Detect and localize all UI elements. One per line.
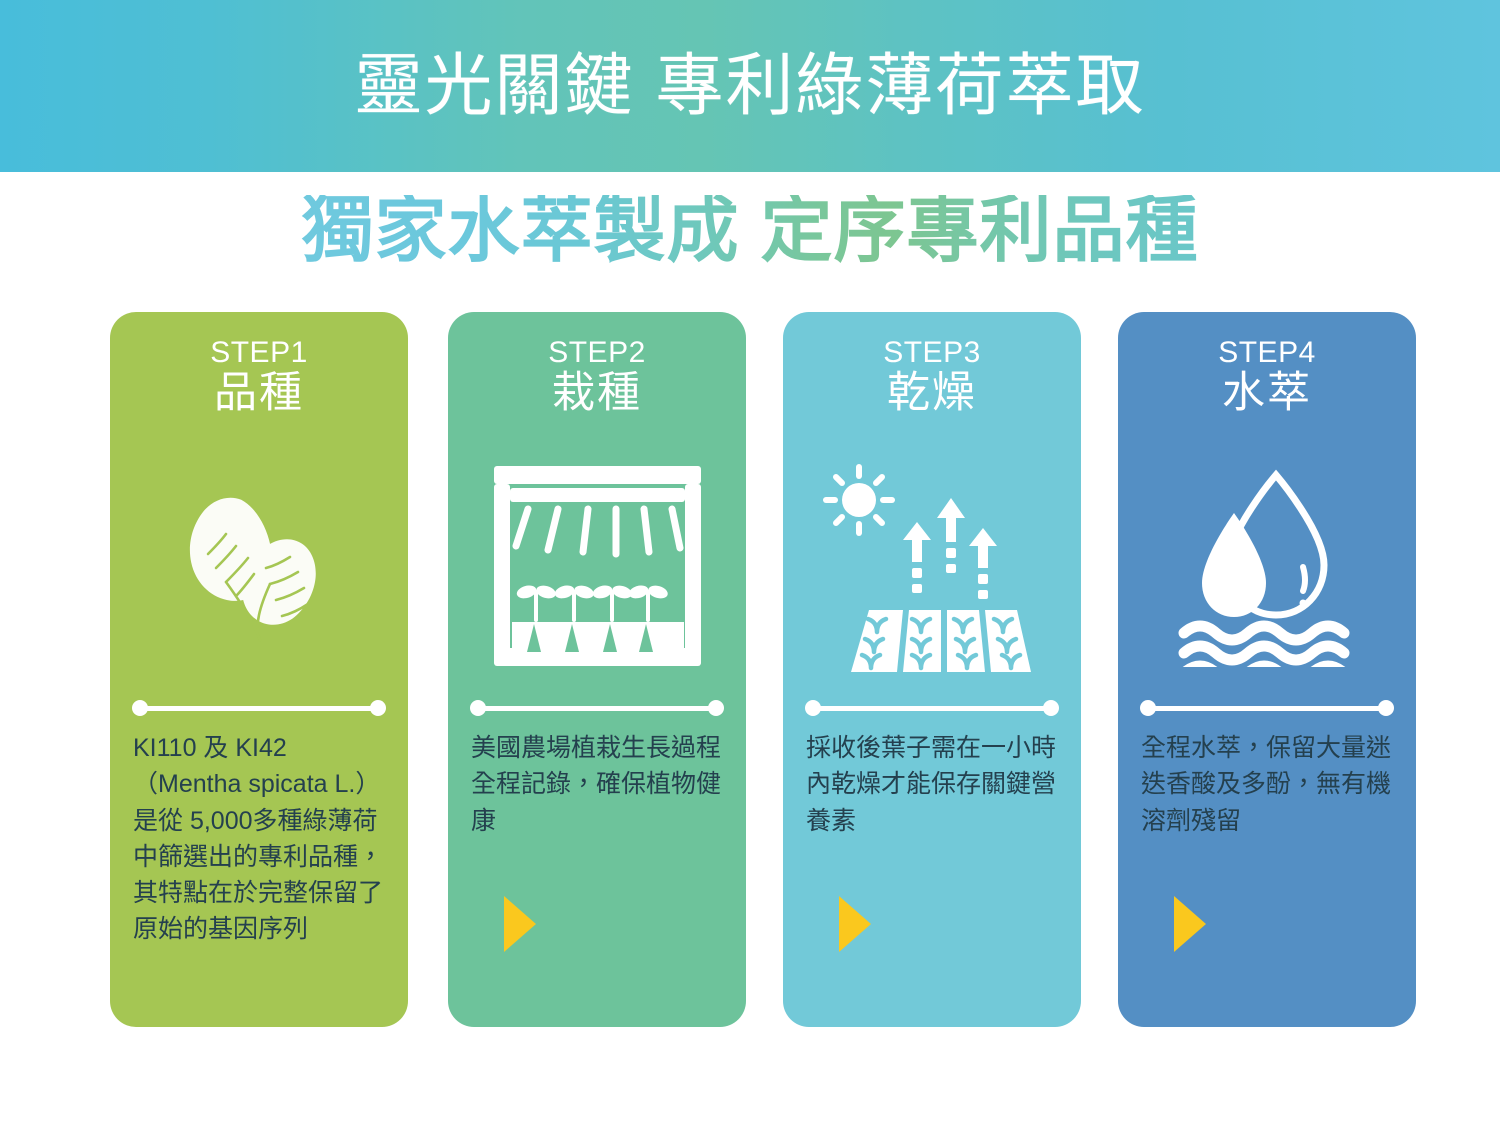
arrow-step2-to-step3-icon xyxy=(839,896,871,952)
arrow-step3-to-step4-icon xyxy=(1174,896,1206,952)
step-name: 栽種 xyxy=(448,368,746,420)
mint-leaves-icon xyxy=(110,447,408,687)
divider xyxy=(1140,700,1394,716)
divider-dot-right xyxy=(370,700,386,716)
water-drop-waves-icon xyxy=(1118,447,1416,687)
step-card-3[interactable]: STEP3 乾燥 xyxy=(783,312,1081,1027)
infographic-page: 靈光關鍵 專利綠薄荷萃取 獨家水萃製成 定序專利品種 STEP1 品種 xyxy=(0,0,1500,1125)
divider xyxy=(132,700,386,716)
step-description: 採收後葉子需在一小時 內乾燥才能保存關鍵營 養素 xyxy=(806,730,1068,839)
divider-dot-right xyxy=(1043,700,1059,716)
greenhouse-irrigation-icon xyxy=(448,447,746,687)
water-drop-icon xyxy=(1202,475,1324,617)
divider-dot-right xyxy=(708,700,724,716)
step-description: 美國農場植栽生長過程 全程記錄，確保植物健 康 xyxy=(471,730,733,839)
header-banner: 靈光關鍵 專利綠薄荷萃取 xyxy=(0,0,1500,172)
sun-drying-field-icon xyxy=(783,447,1081,687)
step-card-1[interactable]: STEP1 品種 xyxy=(110,312,408,1027)
divider-bar xyxy=(1146,706,1388,711)
divider-bar xyxy=(811,706,1053,711)
divider xyxy=(470,700,724,716)
divider-bar xyxy=(138,706,380,711)
arrow-step1-to-step2-icon xyxy=(504,896,536,952)
step-label: STEP4 xyxy=(1118,336,1416,371)
steps-row: STEP1 品種 xyxy=(110,312,1422,1027)
divider-bar xyxy=(476,706,718,711)
step-description: 全程水萃，保留大量迷 迭香酸及多酚，無有機 溶劑殘留 xyxy=(1141,730,1403,839)
evaporation-arrows-icon xyxy=(903,498,997,599)
divider-dot-right xyxy=(1378,700,1394,716)
waves-icon xyxy=(1184,626,1344,667)
step-label: STEP2 xyxy=(448,336,746,371)
subtitle: 獨家水萃製成 定序專利品種 xyxy=(301,195,1198,267)
step-card-4[interactable]: STEP4 水萃 xyxy=(1118,312,1416,1027)
step-name: 乾燥 xyxy=(783,368,1081,420)
divider xyxy=(805,700,1059,716)
page-title: 靈光關鍵 專利綠薄荷萃取 xyxy=(355,52,1146,120)
step-name: 水萃 xyxy=(1118,368,1416,420)
step-card-2[interactable]: STEP2 栽種 xyxy=(448,312,746,1027)
step-label: STEP3 xyxy=(783,336,1081,371)
step-description: KI110 及 KI42 （Mentha spicata L.） 是從 5,00… xyxy=(133,730,395,948)
step-label: STEP1 xyxy=(110,336,408,371)
subtitle-container: 獨家水萃製成 定序專利品種 xyxy=(0,176,1500,286)
sun-icon xyxy=(826,467,892,533)
step-name: 品種 xyxy=(110,368,408,420)
